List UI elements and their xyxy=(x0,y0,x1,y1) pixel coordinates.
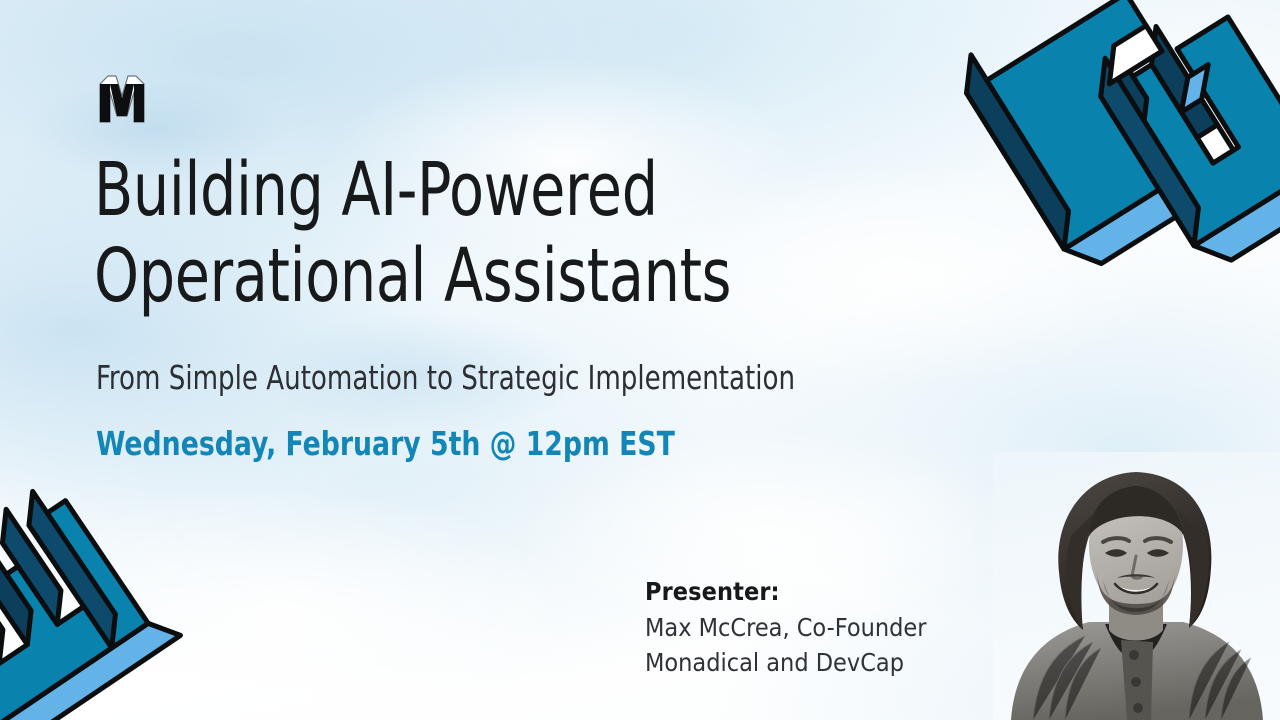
monadical-isometric-m-logo-icon xyxy=(985,0,1280,312)
monadical-m-monogram-icon xyxy=(96,72,148,126)
presenter-label: Presenter: xyxy=(645,574,1005,610)
monadical-isometric-m-logo-icon xyxy=(0,498,192,720)
presenter-block: Presenter: Max McCrea, Co-Founder Monadi… xyxy=(645,574,1005,681)
webinar-slide: Building AI-Powered Operational Assistan… xyxy=(0,0,1280,720)
presenter-company: Monadical and DevCap xyxy=(645,645,1005,681)
page-title: Building AI-Powered Operational Assistan… xyxy=(94,148,816,320)
presenter-photo xyxy=(993,452,1280,720)
event-date: Wednesday, February 5th @ 12pm EST xyxy=(96,424,850,464)
page-subtitle: From Simple Automation to Strategic Impl… xyxy=(96,358,833,398)
headline-block: Building AI-Powered Operational Assistan… xyxy=(94,148,934,464)
presenter-name: Max McCrea, Co-Founder xyxy=(645,610,1005,646)
